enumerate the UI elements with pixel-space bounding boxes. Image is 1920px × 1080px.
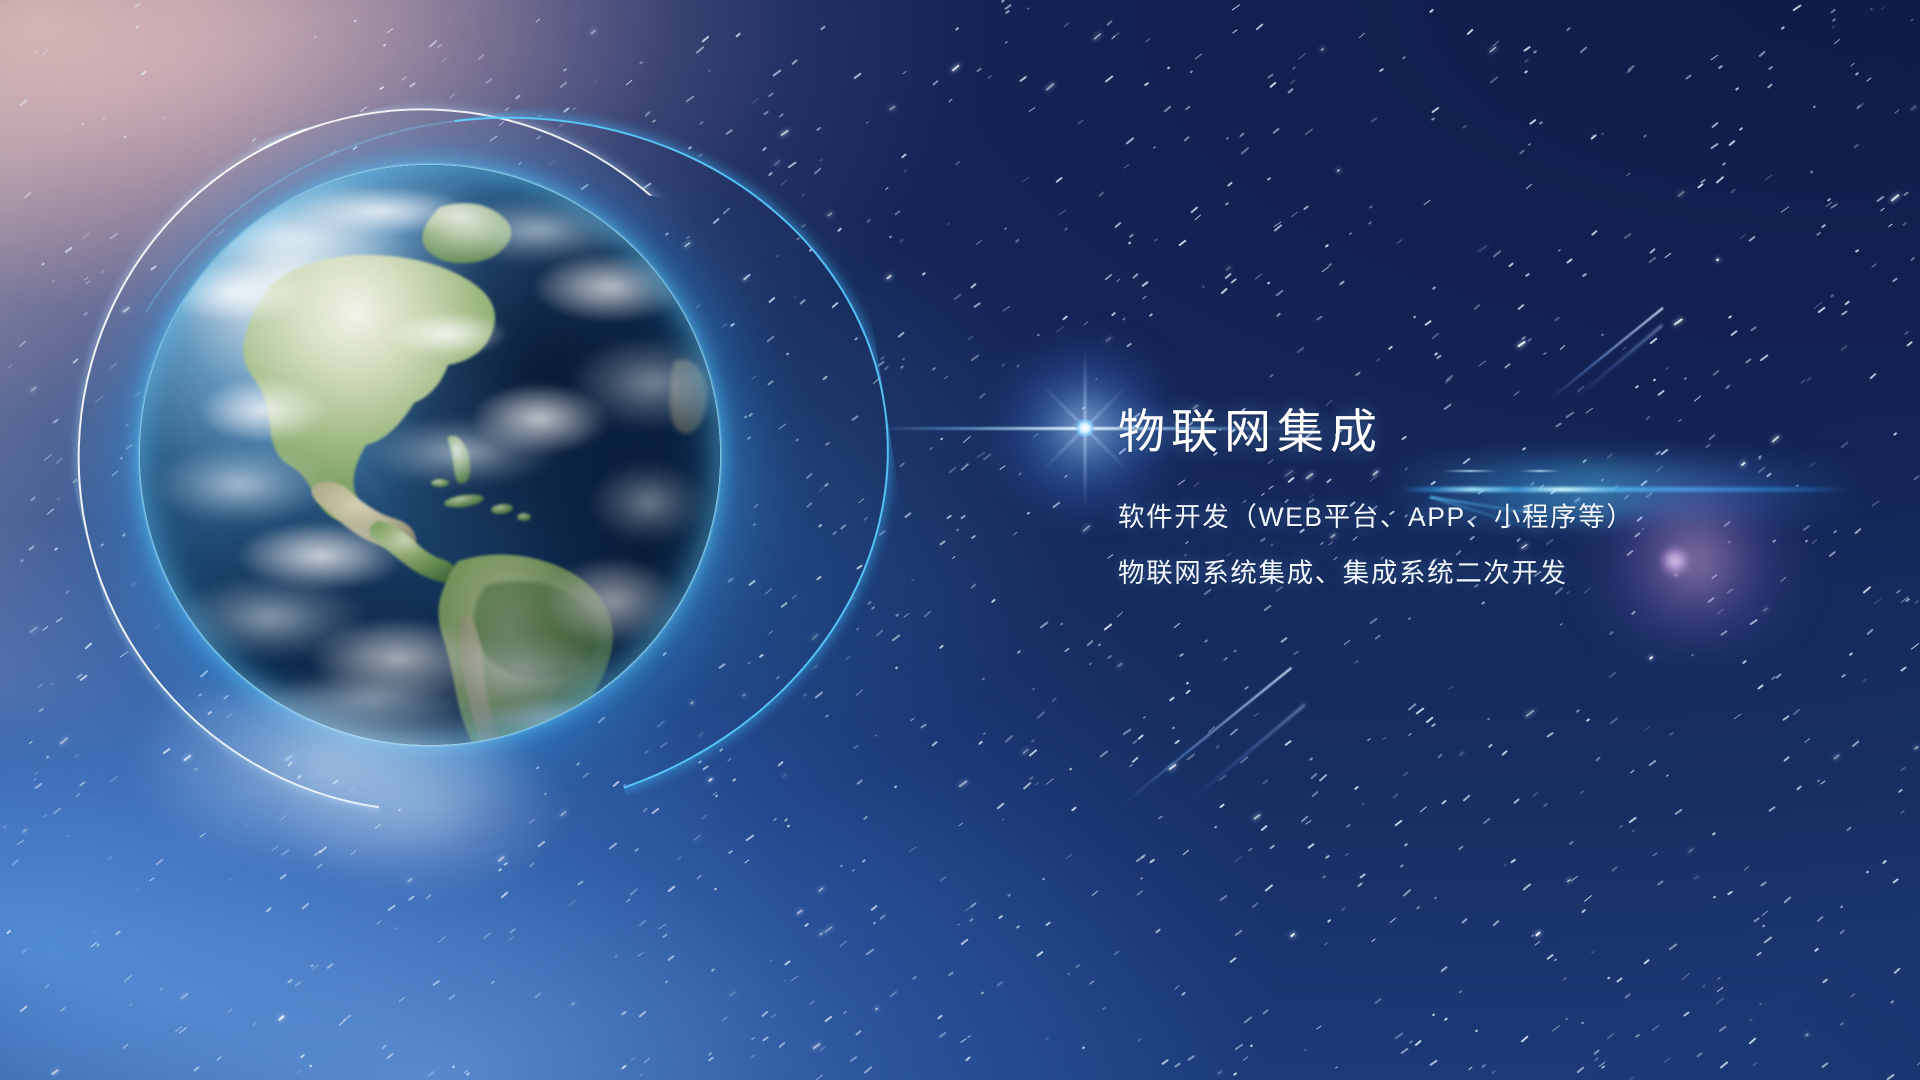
hero-copy: 物联网集成 软件开发（WEB平台、APP、小程序等） 物联网系统集成、集成系统二… [1118,406,1858,587]
subtitle-line-1: 软件开发（WEB平台、APP、小程序等） [1118,504,1858,531]
page-title: 物联网集成 [1118,406,1858,459]
hero-banner: 物联网集成 软件开发（WEB平台、APP、小程序等） 物联网系统集成、集成系统二… [0,0,1920,1080]
subtitle-line-2: 物联网系统集成、集成系统二次开发 [1118,560,1858,587]
